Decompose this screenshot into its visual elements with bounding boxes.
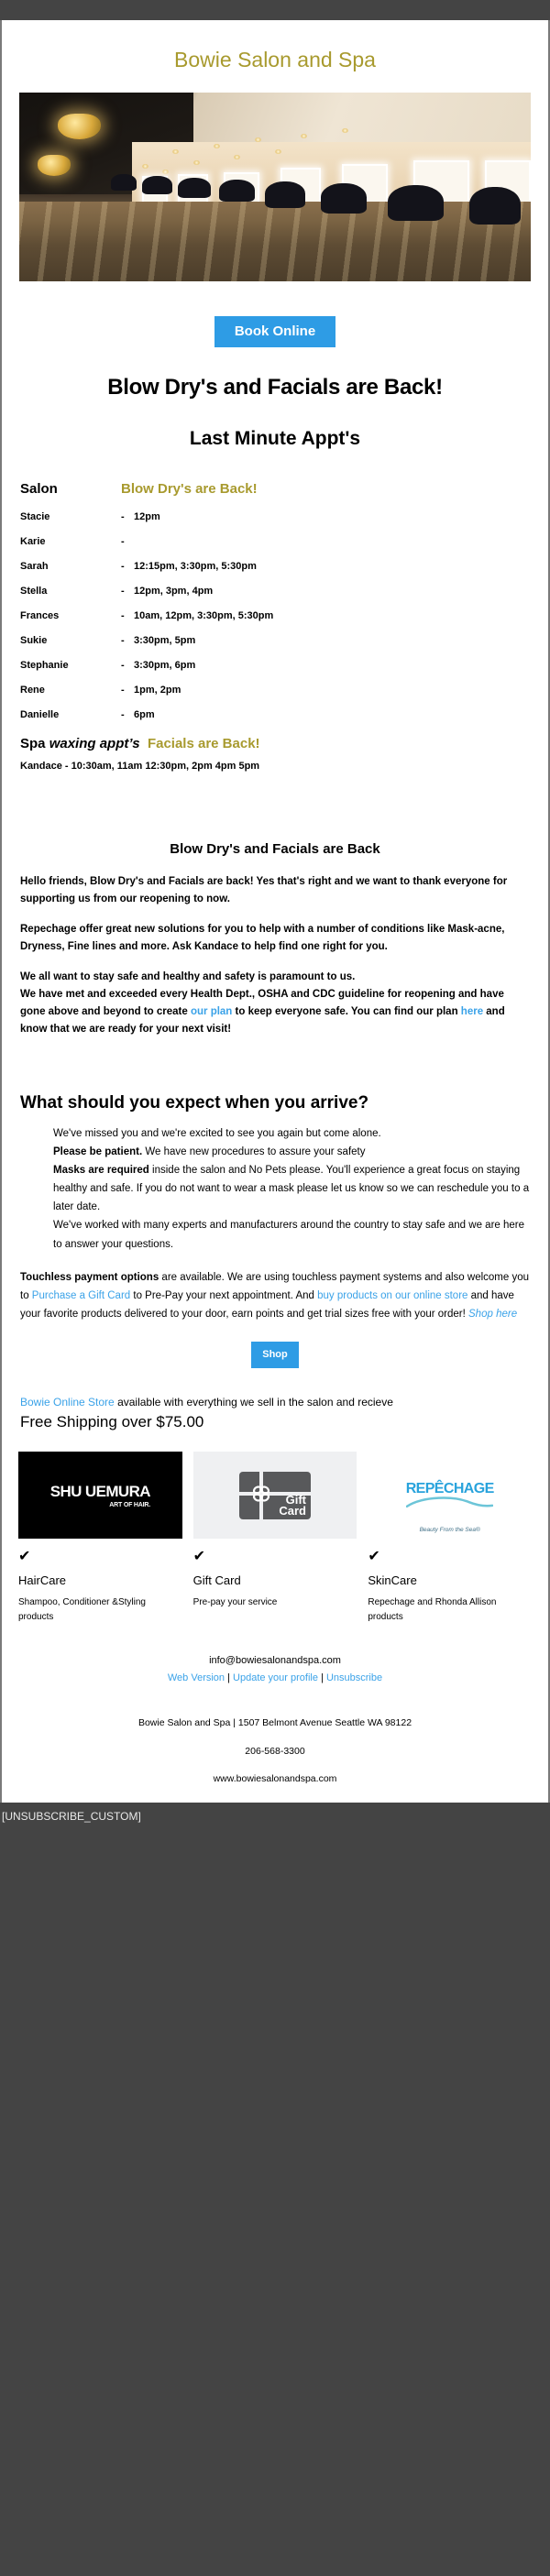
column-desc: Repechage and Rhonda Allison products	[368, 1587, 532, 1624]
stylist-name: Stacie	[20, 511, 121, 536]
expect-line-4: We've worked with many experts and manuf…	[53, 1220, 524, 1249]
stylist-times: 6pm	[134, 709, 530, 734]
email-body-card: Bowie Salon and Spa	[0, 20, 550, 1803]
here-link[interactable]: here	[461, 1006, 483, 1017]
shu-logo-sub: ART OF HAIR.	[50, 1502, 150, 1508]
contact-email: info@bowiesalonandspa.com	[20, 1655, 530, 1666]
stylist-times: 1pm, 2pm	[134, 685, 530, 709]
online-store-link[interactable]: buy products on our online store	[317, 1290, 467, 1301]
row-dash: -	[121, 685, 134, 709]
stylist-times: 10am, 12pm, 3:30pm, 5:30pm	[134, 610, 530, 635]
repechage-logo-sub: Beauty From the Sea®	[406, 1527, 494, 1533]
stylist-times: 12pm, 3pm, 4pm	[134, 586, 530, 610]
table-row: Stacie - 12pm	[20, 511, 530, 536]
shop-here-link[interactable]: Shop here	[468, 1309, 517, 1320]
stylist-times	[134, 536, 530, 561]
hero-image-wrap	[2, 93, 548, 281]
chandelier-icon	[38, 155, 71, 176]
column-skincare: REPÊCHAGE Beauty From the Sea® ✔ SkinCar…	[368, 1452, 532, 1624]
bowie-online-store-link[interactable]: Bowie Online Store	[20, 1396, 115, 1409]
page-title: Bowie Salon and Spa	[2, 20, 548, 93]
schedule-header-row: Salon Blow Dry's are Back!	[20, 481, 530, 511]
book-online-row: Book Online	[2, 281, 548, 347]
spa-appointments-row: Kandace - 10:30am, 11am 12:30pm, 2pm 4pm…	[20, 761, 530, 775]
paragraph-2: Repechage offer great new solutions for …	[20, 921, 530, 956]
spa-badge: Facials are Back!	[148, 736, 260, 751]
appointments-schedule: Salon Blow Dry's are Back! Stacie - 12pm…	[2, 450, 548, 775]
p3-line2b: to keep everyone safe. You can find our …	[232, 1006, 460, 1017]
check-icon: ✔	[193, 1539, 357, 1564]
schedule-table: Salon Blow Dry's are Back! Stacie - 12pm…	[20, 481, 530, 734]
store-text: available with everything we sell in the…	[115, 1396, 393, 1409]
book-online-button[interactable]: Book Online	[214, 316, 335, 347]
expect-bold-masks: Masks are required	[53, 1165, 149, 1176]
link-separator: |	[318, 1672, 326, 1683]
section-heading: Blow Dry's and Facials are Back	[2, 775, 548, 857]
stylist-name: Sarah	[20, 561, 121, 586]
gift-card-logo[interactable]: GiftCard	[193, 1452, 357, 1539]
column-giftcard: GiftCard ✔ Gift Card Pre-pay your servic…	[193, 1452, 357, 1624]
column-desc: Shampoo, Conditioner &Styling products	[18, 1587, 182, 1624]
expect-heading: What should you expect when you arrive?	[2, 1051, 548, 1113]
spa-header: Spa waxing appt’s Facials are Back!	[20, 734, 530, 761]
row-dash: -	[121, 536, 134, 561]
shu-uemura-logo[interactable]: SHU UEMURA ART OF HAIR.	[18, 1452, 182, 1539]
salon-badge: Blow Dry's are Back!	[121, 481, 530, 511]
salon-label: Salon	[20, 481, 121, 511]
bow-icon	[250, 1483, 272, 1505]
touchless-payment-copy: Touchless payment options are available.…	[2, 1254, 548, 1323]
row-dash: -	[121, 610, 134, 635]
headline-secondary: Last Minute Appt's	[2, 428, 548, 450]
column-haircare: SHU UEMURA ART OF HAIR. ✔ HairCare Shamp…	[18, 1452, 182, 1624]
column-title: HairCare	[18, 1564, 182, 1587]
stylist-name: Danielle	[20, 709, 121, 734]
spa-label: Spa	[20, 736, 49, 751]
stylist-times: 3:30pm, 5pm	[134, 635, 530, 660]
online-store-line: Bowie Online Store available with everyt…	[2, 1368, 548, 1410]
shu-logo-main: SHU UEMURA	[50, 1483, 150, 1501]
stylist-times: 3:30pm, 6pm	[134, 660, 530, 685]
expect-line-1: We've missed you and we're excited to se…	[53, 1128, 381, 1139]
spa-label-italic: waxing appt’s	[49, 736, 140, 751]
footer-phone: 206-568-3300	[20, 1747, 530, 1775]
repechage-logo[interactable]: REPÊCHAGE Beauty From the Sea®	[368, 1452, 532, 1539]
footer-links: Web Version | Update your profile | Unsu…	[20, 1666, 530, 1683]
row-dash: -	[121, 635, 134, 660]
row-dash: -	[121, 511, 134, 536]
hero-floor	[19, 202, 531, 281]
product-columns: SHU UEMURA ART OF HAIR. ✔ HairCare Shamp…	[2, 1431, 548, 1624]
stylist-name: Stephanie	[20, 660, 121, 685]
row-dash: -	[121, 660, 134, 685]
touchless-text-2: to Pre-Pay your next appointment. And	[130, 1290, 317, 1301]
headline-primary: Blow Dry's and Facials are Back!	[2, 375, 548, 400]
check-icon: ✔	[368, 1539, 532, 1564]
table-row: Stella - 12pm, 3pm, 4pm	[20, 586, 530, 610]
shop-button[interactable]: Shop	[251, 1342, 299, 1368]
email-page: Bowie Salon and Spa	[0, 0, 550, 1905]
salon-interior-photo	[19, 93, 531, 281]
stylist-times: 12pm	[134, 511, 530, 536]
stylist-times: 12:15pm, 3:30pm, 5:30pm	[134, 561, 530, 586]
stylist-name: Karie	[20, 536, 121, 561]
table-row: Rene - 1pm, 2pm	[20, 685, 530, 709]
paragraph-3: We all want to stay safe and healthy and…	[20, 969, 530, 1038]
table-row: Danielle - 6pm	[20, 709, 530, 734]
table-row: Sarah - 12:15pm, 3:30pm, 5:30pm	[20, 561, 530, 586]
row-dash: -	[121, 709, 134, 734]
repechage-logo-main: REPÊCHAGE	[406, 1481, 494, 1497]
unsubscribe-token-bar: [UNSUBSCRIBE_CUSTOM]	[0, 1803, 550, 1905]
update-profile-link[interactable]: Update your profile	[233, 1672, 318, 1683]
row-dash: -	[121, 586, 134, 610]
stylist-name: Stella	[20, 586, 121, 610]
table-row: Sukie - 3:30pm, 5pm	[20, 635, 530, 660]
column-desc: Pre-pay your service	[193, 1587, 357, 1610]
expect-copy: We've missed you and we're excited to se…	[2, 1113, 548, 1254]
wave-icon	[406, 1496, 493, 1509]
our-plan-link[interactable]: our plan	[191, 1006, 232, 1017]
check-icon: ✔	[18, 1539, 182, 1564]
stylist-name: Frances	[20, 610, 121, 635]
stylist-name: Rene	[20, 685, 121, 709]
expect-line-2: We have new procedures to assure your sa…	[142, 1146, 365, 1157]
touchless-bold: Touchless payment options	[20, 1272, 159, 1283]
table-row: Frances - 10am, 12pm, 3:30pm, 5:30pm	[20, 610, 530, 635]
paragraph-1: Hello friends, Blow Dry's and Facials ar…	[20, 873, 530, 908]
footer-block: Bowie Salon and Spa | 1507 Belmont Avenu…	[2, 1683, 548, 1803]
table-row: Karie -	[20, 536, 530, 561]
contact-block: info@bowiesalonandspa.com Web Version | …	[2, 1624, 548, 1683]
unsubscribe-link[interactable]: Unsubscribe	[326, 1672, 382, 1683]
table-row: Stephanie - 3:30pm, 6pm	[20, 660, 530, 685]
row-dash: -	[121, 561, 134, 586]
shop-button-row: Shop	[2, 1323, 548, 1368]
column-title: SkinCare	[368, 1564, 532, 1587]
column-title: Gift Card	[193, 1564, 357, 1587]
link-separator: |	[225, 1672, 233, 1683]
top-frame-bar	[0, 0, 550, 20]
footer-address: Bowie Salon and Spa | 1507 Belmont Avenu…	[20, 1718, 530, 1747]
body-copy: Hello friends, Blow Dry's and Facials ar…	[2, 857, 548, 1038]
gift-logo-sub: Card	[279, 1504, 306, 1518]
web-version-link[interactable]: Web Version	[168, 1672, 225, 1683]
free-shipping-text: Free Shipping over $75.00	[2, 1410, 548, 1431]
footer-website: www.bowiesalonandspa.com	[20, 1774, 530, 1803]
purchase-gift-card-link[interactable]: Purchase a Gift Card	[32, 1290, 130, 1301]
expect-bold-patient: Please be patient.	[53, 1146, 142, 1157]
p3-line1: We all want to stay safe and healthy and…	[20, 971, 355, 982]
stylist-name: Sukie	[20, 635, 121, 660]
